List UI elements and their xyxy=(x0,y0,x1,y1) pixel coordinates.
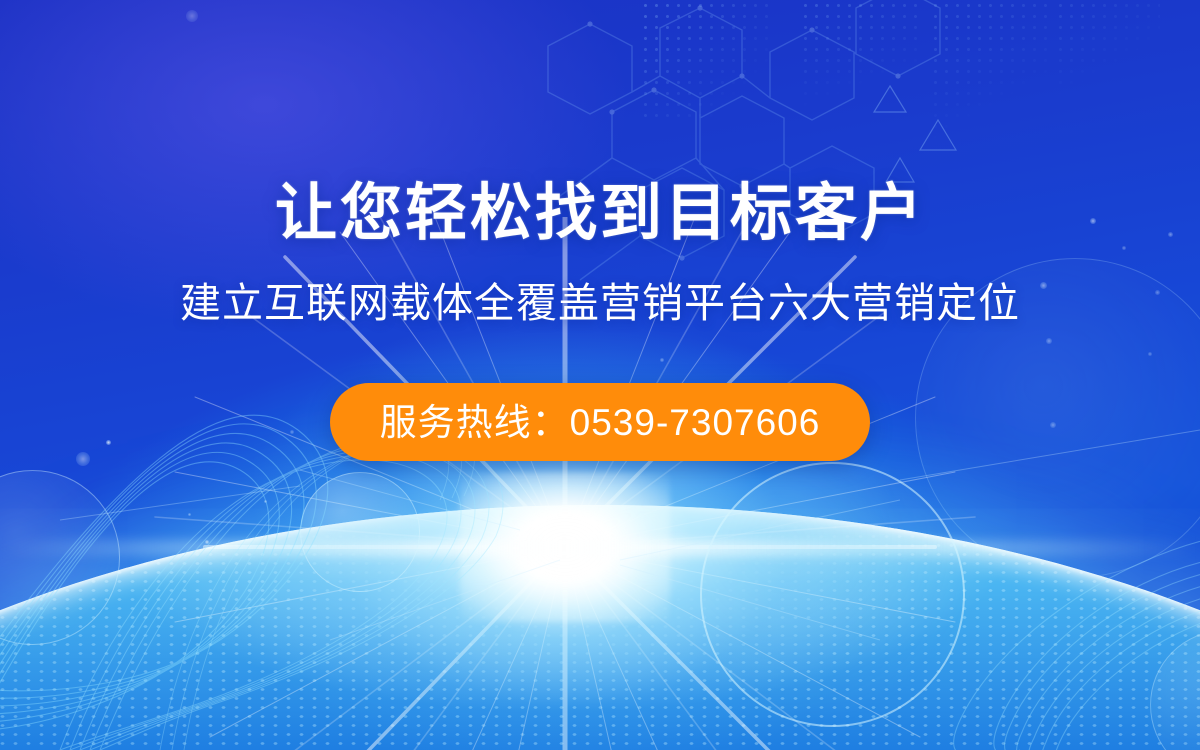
hotline-text: 服务热线：0539-7307606 xyxy=(380,404,821,441)
hotline-container: 服务热线：0539-7307606 xyxy=(0,383,1200,461)
banner-content: 让您轻松找到目标客户 建立互联网载体全覆盖营销平台六大营销定位 服务热线：053… xyxy=(0,0,1200,750)
banner-subtitle: 建立互联网载体全覆盖营销平台六大营销定位 xyxy=(0,283,1200,324)
hotline-button[interactable]: 服务热线：0539-7307606 xyxy=(330,383,870,461)
page-title: 让您轻松找到目标客户 xyxy=(0,183,1200,245)
promo-banner: 让您轻松找到目标客户 建立互联网载体全覆盖营销平台六大营销定位 服务热线：053… xyxy=(0,0,1200,750)
